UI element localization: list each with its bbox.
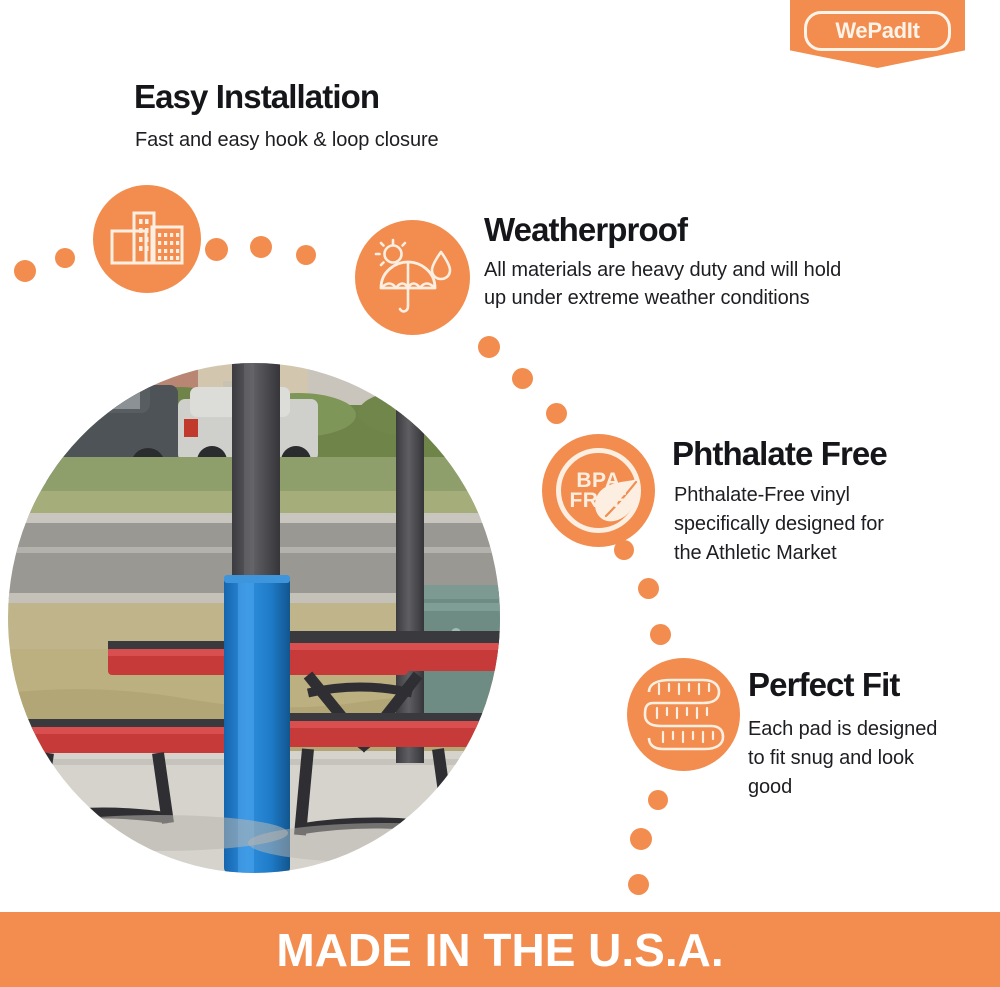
path-dot [650,624,671,645]
path-dot [478,336,500,358]
feature-body-weatherproof-line2: up under extreme weather conditions [484,284,924,312]
sun-umbrella-raindrop-icon-glyph [371,238,455,318]
infographic-page: WePadIt Easy Installation Fast and easy … [0,0,1000,987]
bpa-label-line1: BPA [569,471,627,491]
bpa-free-label: BPA FREE [569,471,627,511]
product-photo-illustration [8,363,500,873]
path-dot [250,236,272,258]
logo-plate: WePadIt [804,11,951,51]
logo-text: WePadIt [835,20,919,42]
measuring-tape-icon-glyph [641,672,727,758]
path-dot [512,368,533,389]
path-dot [628,874,649,895]
feature-body-phthalate-free-line2: specifically designed for [674,510,974,538]
brand-logo: WePadIt [790,0,965,68]
path-dot [630,828,652,850]
feature-body-easy-installation: Fast and easy hook & loop closure [135,126,555,154]
feature-title-perfect-fit: Perfect Fit [748,668,899,703]
path-dot [296,245,316,265]
path-dot [638,578,659,599]
sun-umbrella-raindrop-icon [355,220,470,335]
feature-title-easy-installation: Easy Installation [134,80,379,115]
feature-body-perfect-fit-line3: good [748,773,998,801]
path-dot [648,790,668,810]
path-dot [55,248,75,268]
feature-title-weatherproof: Weatherproof [484,213,687,248]
feature-body-perfect-fit-line2: to fit snug and look [748,744,998,772]
feature-title-phthalate-free: Phthalate Free [672,437,887,472]
feature-body-phthalate-free-line3: the Athletic Market [674,539,974,567]
made-in-usa-text: MADE IN THE U.S.A. [276,927,723,973]
path-dot [14,260,36,282]
path-dot [205,238,228,261]
feature-body-phthalate-free-line1: Phthalate-Free vinyl [674,481,974,509]
buildings-icon [93,185,201,293]
buildings-icon-glyph [110,209,184,269]
product-photo [8,363,500,873]
feature-body-weatherproof-line1: All materials are heavy duty and will ho… [484,256,924,284]
measuring-tape-icon [627,658,740,771]
path-dot [546,403,567,424]
made-in-usa-banner: MADE IN THE U.S.A. [0,912,1000,987]
bpa-label-line2: FREE [569,491,627,511]
bpa-free-leaf-icon: BPA FREE [542,434,655,547]
feature-body-perfect-fit-line1: Each pad is designed [748,715,998,743]
